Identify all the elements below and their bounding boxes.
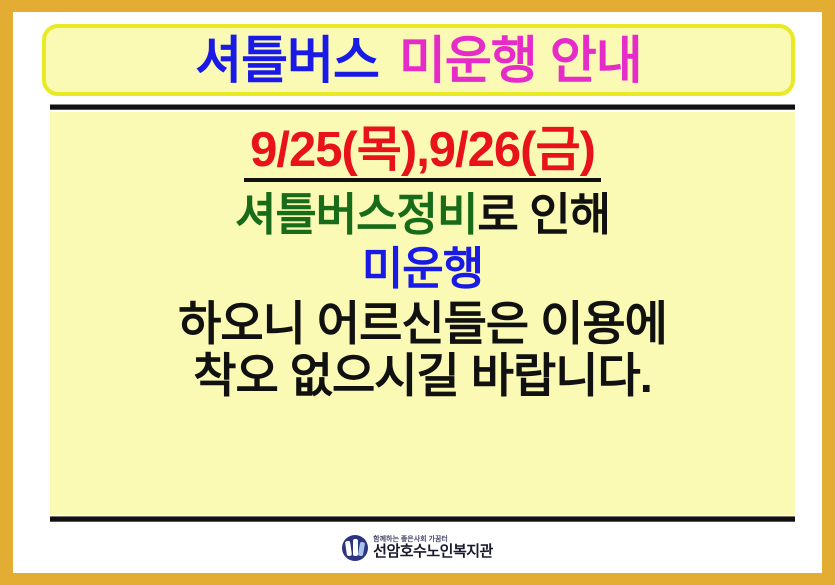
organization-text-block: 함께하는 좋은사회 가꿈터 선암호수노인복지관 — [373, 536, 493, 559]
title-part-notice: 미운행 안내 — [399, 32, 642, 89]
title-banner: 셔틀버스미운행 안내 — [42, 24, 795, 96]
divider-below-body — [50, 516, 795, 522]
poster-title: 셔틀버스미운행 안내 — [195, 35, 641, 86]
divider-below-title — [50, 104, 795, 110]
notice-body-panel: 9/25(목),9/26(금) 셔틀버스정비로 인해 미운행 하오니 어르신들은… — [50, 112, 795, 515]
notice-date-line: 9/25(목),9/26(금) — [244, 126, 601, 182]
title-part-subject: 셔틀버스 — [195, 32, 379, 89]
reason-highlight-text: 셔틀버스정비 — [235, 189, 477, 240]
notice-poster: 셔틀버스미운행 안내 9/25(목),9/26(금) 셔틀버스정비로 인해 미운… — [0, 0, 835, 585]
poster-footer: 함께하는 좋은사회 가꿈터 선암호수노인복지관 — [13, 524, 822, 571]
organization-circle-logo-icon — [342, 535, 368, 561]
organization-logo: 함께하는 좋은사회 가꿈터 선암호수노인복지관 — [342, 535, 493, 561]
reason-rest-text: 로 인해 — [477, 189, 610, 240]
notice-note-line-1: 하오니 어르신들은 이용에 — [178, 300, 667, 348]
notice-status-line: 미운행 — [362, 246, 483, 292]
notice-reason-line: 셔틀버스정비로 인해 — [235, 192, 610, 238]
organization-tagline: 함께하는 좋은사회 가꿈터 — [373, 536, 448, 543]
organization-name: 선암호수노인복지관 — [373, 544, 493, 559]
logo-accent-icon — [358, 541, 365, 556]
poster-inner-area: 셔틀버스미운행 안내 9/25(목),9/26(금) 셔틀버스정비로 인해 미운… — [13, 12, 822, 573]
notice-note-line-2: 착오 없으시길 바랍니다. — [193, 352, 652, 400]
